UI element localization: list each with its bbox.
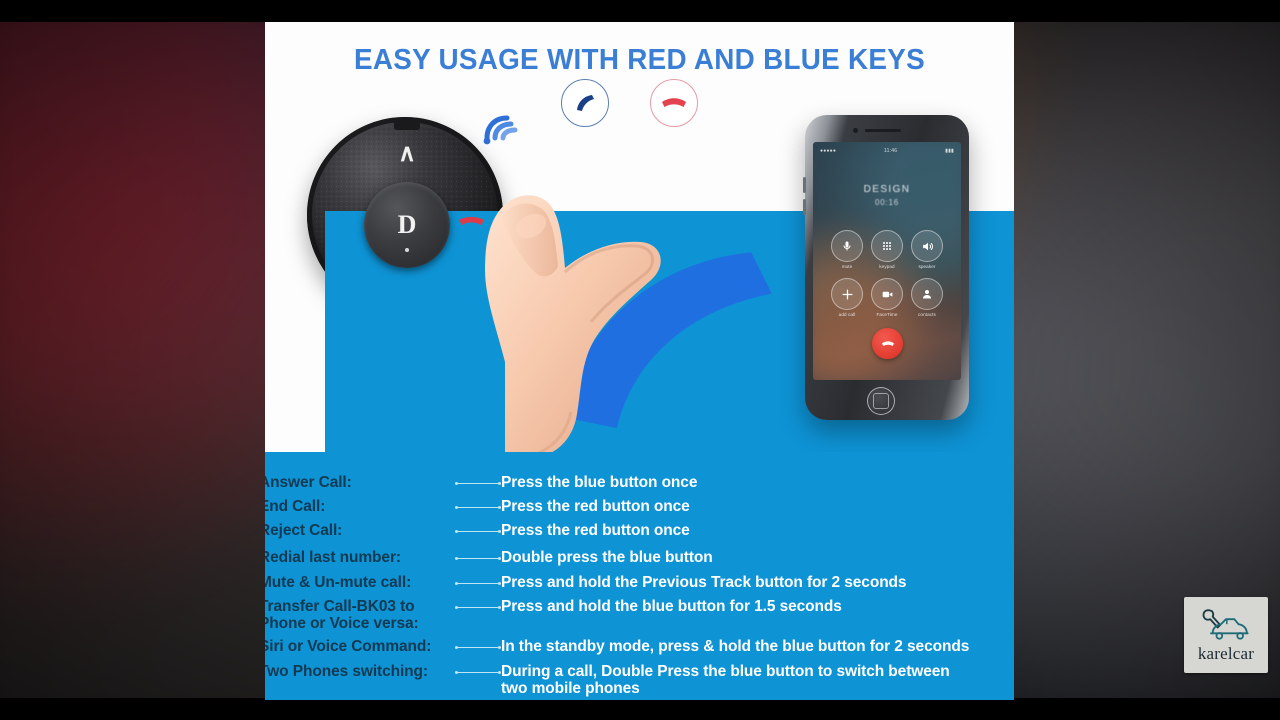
instruction-description: During a call, Double Press the blue but… — [501, 663, 950, 697]
connector-line — [458, 483, 498, 485]
end-call-badge — [650, 79, 698, 127]
call-control-label: speaker — [918, 264, 935, 269]
instruction-row: Redial last number:Double press the blue… — [265, 549, 1014, 567]
hand-pressing-button-illustration — [405, 122, 665, 462]
instruction-connector — [455, 523, 501, 540]
phone-hangup-icon — [651, 80, 697, 126]
instruction-row: Two Phones switching:During a call, Doub… — [265, 663, 1014, 697]
call-control-label: mute — [842, 264, 853, 269]
answer-call-badge — [561, 79, 609, 127]
connector-line — [458, 558, 498, 560]
call-control-label: add call — [839, 312, 856, 317]
phone-earpiece-speaker — [865, 129, 901, 132]
plus-icon — [831, 278, 863, 310]
instruction-label: Siri or Voice Command: — [265, 638, 455, 655]
status-battery: ▮▮▮ — [945, 148, 954, 154]
phone-hangup-icon — [880, 336, 896, 352]
call-control-label: contacts — [918, 312, 936, 317]
call-control-label: FaceTime — [876, 312, 897, 317]
instruction-row: Transfer Call-BK03 toPhone or Voice vers… — [265, 598, 1014, 632]
person-icon — [911, 278, 943, 310]
status-time: 11:46 — [884, 148, 897, 154]
instruction-row: Answer Call:Press the blue button once — [265, 474, 1014, 492]
instruction-description: Press the red button once — [501, 498, 690, 515]
instruction-label: Redial last number: — [265, 549, 455, 566]
connector-line — [458, 507, 498, 509]
instruction-row: Mute & Un-mute call:Press and hold the P… — [265, 574, 1014, 592]
instruction-description: Press the blue button once — [501, 474, 697, 491]
instruction-description: Press the red button once — [501, 522, 690, 539]
phone-status-bar: ●●●●● 11:46 ▮▮▮ — [813, 146, 961, 155]
instruction-label: Mute & Un-mute call: — [265, 574, 455, 591]
keypad-grid-icon — [871, 230, 903, 262]
product-infographic-panel: EASY USAGE WITH RED AND BLUE KEYS — [265, 22, 1014, 700]
connector-line — [458, 647, 498, 649]
instruction-label: Answer Call: — [265, 474, 455, 491]
car-with-wrench-icon — [1201, 607, 1251, 643]
call-control-label: keypad — [879, 264, 894, 269]
connector-line — [458, 531, 498, 533]
call-control-facetime[interactable]: FaceTime — [867, 278, 907, 317]
instruction-connector — [455, 475, 501, 492]
connector-line — [458, 607, 498, 609]
instructions-panel: Answer Call:Press the blue button onceEn… — [265, 452, 1014, 700]
channel-watermark: karelcar — [1184, 597, 1268, 673]
instruction-description: Press and hold the Previous Track button… — [501, 574, 906, 591]
phone-handset-icon — [562, 80, 608, 126]
instruction-row: Siri or Voice Command:In the standby mod… — [265, 638, 1014, 656]
smartphone-call-screen: ●●●●● 11:46 ▮▮▮ DESIGN 00:16 mute — [805, 115, 969, 420]
instruction-row: End Call:Press the red button once — [265, 498, 1014, 516]
phone-volume-up-button[interactable] — [803, 177, 806, 193]
video-player-frame: EASY USAGE WITH RED AND BLUE KEYS — [0, 0, 1280, 720]
home-button-inner — [873, 393, 889, 409]
instruction-connector — [455, 599, 501, 616]
call-control-keypad[interactable]: keypad — [867, 230, 907, 269]
instruction-description: Double press the blue button — [501, 549, 713, 566]
phone-screen: ●●●●● 11:46 ▮▮▮ DESIGN 00:16 mute — [813, 142, 961, 380]
call-control-contacts[interactable]: contacts — [907, 278, 947, 317]
instruction-connector — [455, 550, 501, 567]
instruction-connector — [455, 639, 501, 656]
instruction-connector — [455, 499, 501, 516]
watermark-text: karelcar — [1198, 644, 1254, 664]
instruction-label: Two Phones switching: — [265, 663, 455, 680]
video-camera-icon — [871, 278, 903, 310]
instruction-connector — [455, 575, 501, 592]
status-signal: ●●●●● — [820, 148, 836, 154]
phone-front-camera — [853, 128, 858, 133]
phone-end-call-button[interactable] — [872, 328, 903, 359]
page-title: EASY USAGE WITH RED AND BLUE KEYS — [280, 44, 999, 77]
instruction-label: Reject Call: — [265, 522, 455, 539]
call-control-mute[interactable]: mute — [827, 230, 867, 269]
instruction-row: Reject Call:Press the red button once — [265, 522, 1014, 540]
call-controls-grid: mute keypad speaker — [827, 230, 947, 317]
speaker-icon — [911, 230, 943, 262]
call-timer: 00:16 — [813, 198, 961, 207]
mute-mic-icon — [831, 230, 863, 262]
phone-home-button[interactable] — [867, 387, 895, 415]
instruction-description: Press and hold the blue button for 1.5 s… — [501, 598, 842, 615]
instruction-label: End Call: — [265, 498, 455, 515]
instruction-description: In the standby mode, press & hold the bl… — [501, 638, 969, 655]
instruction-label: Transfer Call-BK03 toPhone or Voice vers… — [265, 598, 455, 632]
call-control-add-call[interactable]: add call — [827, 278, 867, 317]
connector-line — [458, 672, 498, 674]
phone-volume-down-button[interactable] — [803, 199, 806, 215]
letterbox-top — [0, 0, 1280, 22]
call-control-speaker[interactable]: speaker — [907, 230, 947, 269]
caller-name: DESIGN — [813, 184, 961, 195]
instruction-connector — [455, 664, 501, 681]
letterbox-bottom — [0, 700, 1280, 720]
connector-line — [458, 583, 498, 585]
